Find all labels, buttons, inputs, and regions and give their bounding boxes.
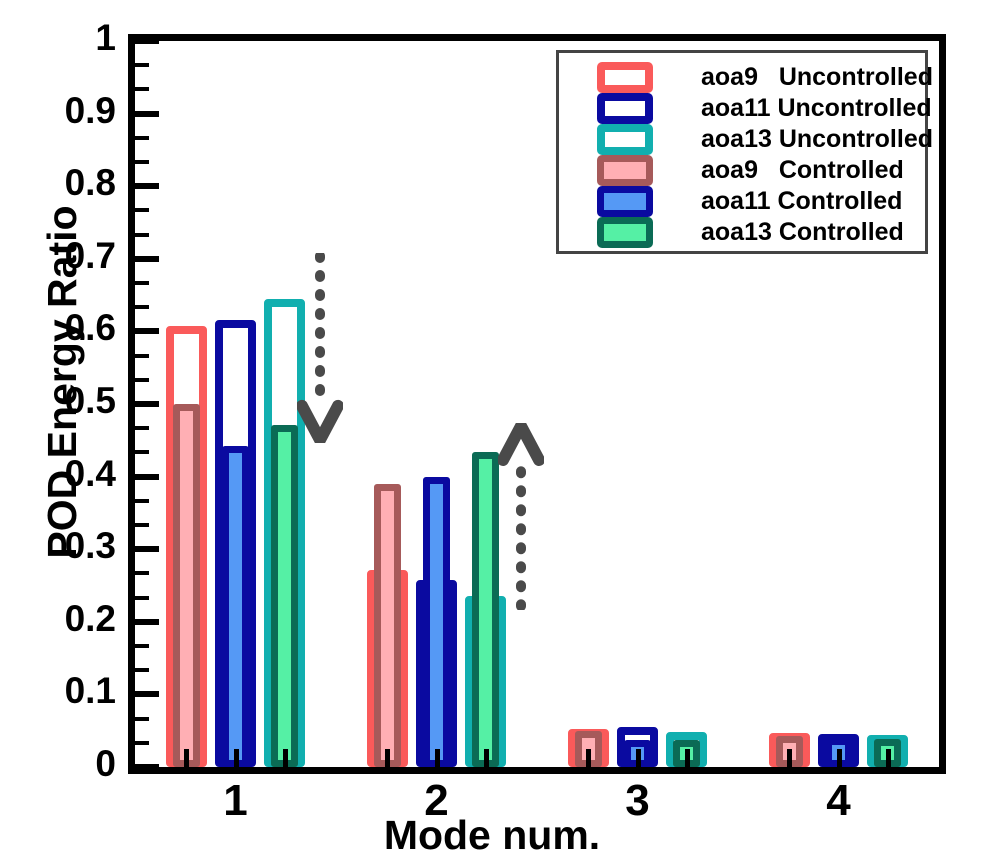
pod-energy-ratio-chart: POD Energy Ratio Mode num. 00.10.20.30.4… [0,0,984,866]
y-tick-label: 0.2 [0,598,116,640]
legend-box: aoa9 Uncontrolledaoa11 Uncontrolledaoa13… [556,50,928,254]
legend-label: aoa11 Uncontrolled [701,93,932,124]
y-tick-label: 0.3 [0,525,116,567]
legend-label: aoa9 Controlled [701,155,904,186]
legend-item: aoa11 Uncontrolled [559,92,925,124]
bar-controlled [222,446,249,767]
legend-swatch-icon [597,186,653,217]
y-tick-label: 0.6 [0,307,116,349]
y-tick-minor [135,717,149,721]
y-tick-major [135,619,159,625]
y-tick-minor [135,233,149,237]
y-tick-minor [135,596,149,600]
legend-label: aoa9 Uncontrolled [701,62,933,93]
x-tick-minor [234,749,239,767]
y-tick-label: 0.1 [0,670,116,712]
x-tick-minor [636,749,641,767]
y-tick-minor [135,136,149,140]
y-tick-minor [135,668,149,672]
bar-controlled [271,425,298,767]
bar-controlled [374,484,401,767]
y-tick-minor [135,63,149,67]
y-tick-minor [135,499,149,503]
y-tick-major [135,546,159,552]
x-tick-minor [586,749,591,767]
y-tick-major [135,183,159,189]
y-tick-major [135,328,159,334]
legend-item: aoa11 Controlled [559,185,925,217]
x-tick-minor [787,749,792,767]
y-tick-minor [135,281,149,285]
legend-swatch-icon [597,124,653,155]
increase-arrow-icon [498,423,544,609]
y-tick-minor [135,305,149,309]
x-tick-minor [283,749,288,767]
y-tick-major [135,401,159,407]
x-tick-label: 1 [191,776,281,826]
y-tick-minor [135,450,149,454]
x-tick-minor [886,749,891,767]
y-tick-minor [135,160,149,164]
y-tick-major [135,111,159,117]
y-tick-label: 0.8 [0,162,116,204]
legend-item: aoa13 Uncontrolled [559,123,925,155]
bar-controlled [472,452,499,767]
legend-swatch-icon [597,217,653,248]
legend-item: aoa9 Controlled [559,154,925,186]
y-tick-label: 0.5 [0,380,116,422]
legend-swatch-icon [597,155,653,186]
y-tick-minor [135,208,149,212]
x-tick-minor [435,749,440,767]
y-tick-minor [135,426,149,430]
y-tick-major [135,38,159,44]
x-tick-minor [484,749,489,767]
legend-label: aoa13 Controlled [701,217,904,248]
y-tick-major [135,764,159,770]
x-tick-label: 4 [794,776,884,826]
y-tick-label: 0.7 [0,235,116,277]
x-tick-minor [837,749,842,767]
bar-controlled [173,404,200,767]
y-tick-major [135,256,159,262]
legend-item: aoa9 Uncontrolled [559,61,925,93]
y-tick-label: 0.9 [0,90,116,132]
legend-label: aoa13 Uncontrolled [701,124,933,155]
y-tick-label: 1 [0,17,116,59]
x-tick-minor [385,749,390,767]
legend-item: aoa13 Controlled [559,216,925,248]
y-tick-label: 0 [0,743,116,785]
legend-swatch-icon [597,93,653,124]
x-tick-label: 2 [392,776,482,826]
y-tick-minor [135,87,149,91]
legend-label: aoa11 Controlled [701,186,902,217]
y-tick-minor [135,378,149,382]
y-tick-major [135,691,159,697]
y-tick-minor [135,354,149,358]
y-tick-minor [135,644,149,648]
bar-controlled [423,477,450,767]
x-tick-minor [685,749,690,767]
y-tick-minor [135,741,149,745]
x-tick-minor [184,749,189,767]
x-tick-label: 3 [593,776,683,826]
y-tick-minor [135,571,149,575]
legend-swatch-icon [597,62,653,93]
y-tick-label: 0.4 [0,453,116,495]
y-tick-major [135,474,159,480]
y-tick-minor [135,523,149,527]
